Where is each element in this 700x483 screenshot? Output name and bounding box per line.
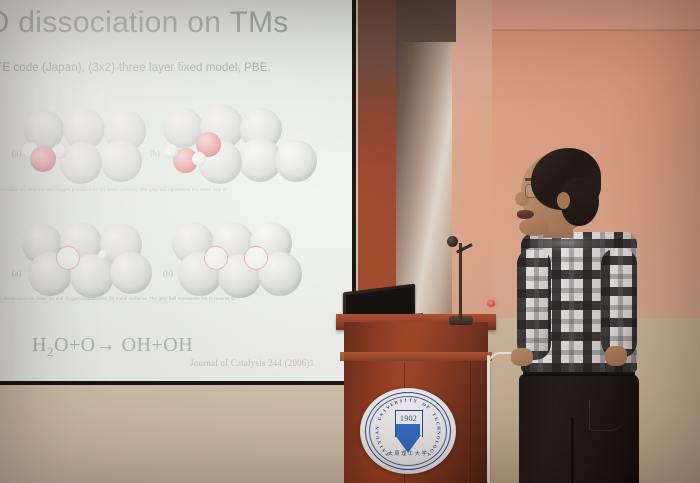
sleeve-shading [601,248,637,358]
journal-citation: Journal of Catalysis 244 (2006)1 [190,358,314,368]
hydroxyl-group [56,246,80,270]
microphone-stand [459,243,462,321]
slide-subtitle: TATE code (Japan), (3x2)-three layer fix… [0,62,332,74]
emblem-arc-letter: R [394,399,399,405]
hydrogen-atom [192,152,206,166]
presenter-hand-right [605,346,627,366]
wall-column-dark [358,0,396,300]
trouser-crease [571,418,574,483]
panel-label-a1: (a) [12,148,21,158]
sleeve-shading [517,248,551,360]
presenter-ear [557,192,570,209]
wall-panel-salmon-upper [487,0,700,30]
equation-lead: H [32,334,47,356]
slide-title: O dissociation on TMs [0,6,326,40]
presenter-hand-left [511,348,533,366]
emblem-arc-letter: Y [413,398,417,404]
wall-column-metal [396,0,452,330]
emblem-chinese-name: 太原理工大学 [376,450,440,457]
panel-label-b1: (b) [150,148,160,158]
projection-screen: O dissociation on TMs TATE code (Japan),… [0,0,352,381]
oxygen-atom [30,146,56,172]
emblem-arc-letter: F [425,404,430,410]
red-indicator-light [487,300,495,307]
emblem-arc-letter: S [399,398,403,403]
slide-subtitle-code: TATE [0,62,10,74]
emblem-arc-letter: I [405,398,407,403]
presenter-arm-back [601,248,637,358]
equation-tail: O+O→ OH+OH [54,334,193,356]
emblem-founding-year: 1902 [395,414,422,423]
hydroxyl-group [204,246,228,270]
emblem-arc-letter: C [435,421,441,425]
metal-atom [275,140,317,182]
microphone-head [447,236,458,247]
ceiling-corner-shadow [396,0,456,42]
wall-trim-line [487,29,700,31]
emblem-arc-letter: T [409,397,412,402]
figure-caption-2: ater dissociation on clean (a) and oxyge… [0,295,324,302]
emblem-arc-letter: N [374,426,379,430]
panel-label-a2: (a) [12,268,21,278]
emblem-arc-letter: A [374,431,379,435]
hydrogen-atom [164,144,178,158]
presenter-cable [487,355,490,483]
hydrogen-atom [98,250,108,260]
equation-subscript: 2 [47,344,54,359]
emblem-arc-letter: N [436,431,441,435]
slide-subtitle-rest: code (Japan), (3x2)-three layer fixed mo… [10,62,271,74]
metal-atom [100,140,142,182]
podium-ledge [340,352,492,361]
podium-panel-seam [470,362,471,483]
presenter [505,148,650,483]
wall-column-salmon [452,0,492,330]
presenter-chin [519,218,549,236]
emblem-arc-letter: U [377,416,383,421]
reaction-equation: H2O+O→ OH+OH [32,334,193,360]
trouser-pocket [589,400,624,431]
university-emblem: TAIYUAN UNIVERSITY OF TECHNOLOGY 1902 太原… [360,388,456,474]
figure-caption-1: dissociation on clean (a) and oxygen pre… [0,186,324,193]
photograph-scene: O dissociation on TMs TATE code (Japan),… [0,0,700,483]
emblem-arc-letter: O [435,435,441,440]
hydroxyl-group [244,246,268,270]
presenter-arm-front [517,248,551,360]
metal-atom [110,252,152,294]
emblem-arc-letter: H [436,426,441,430]
panel-label-b2: (b) [163,268,173,278]
presenter-trousers [519,374,639,483]
